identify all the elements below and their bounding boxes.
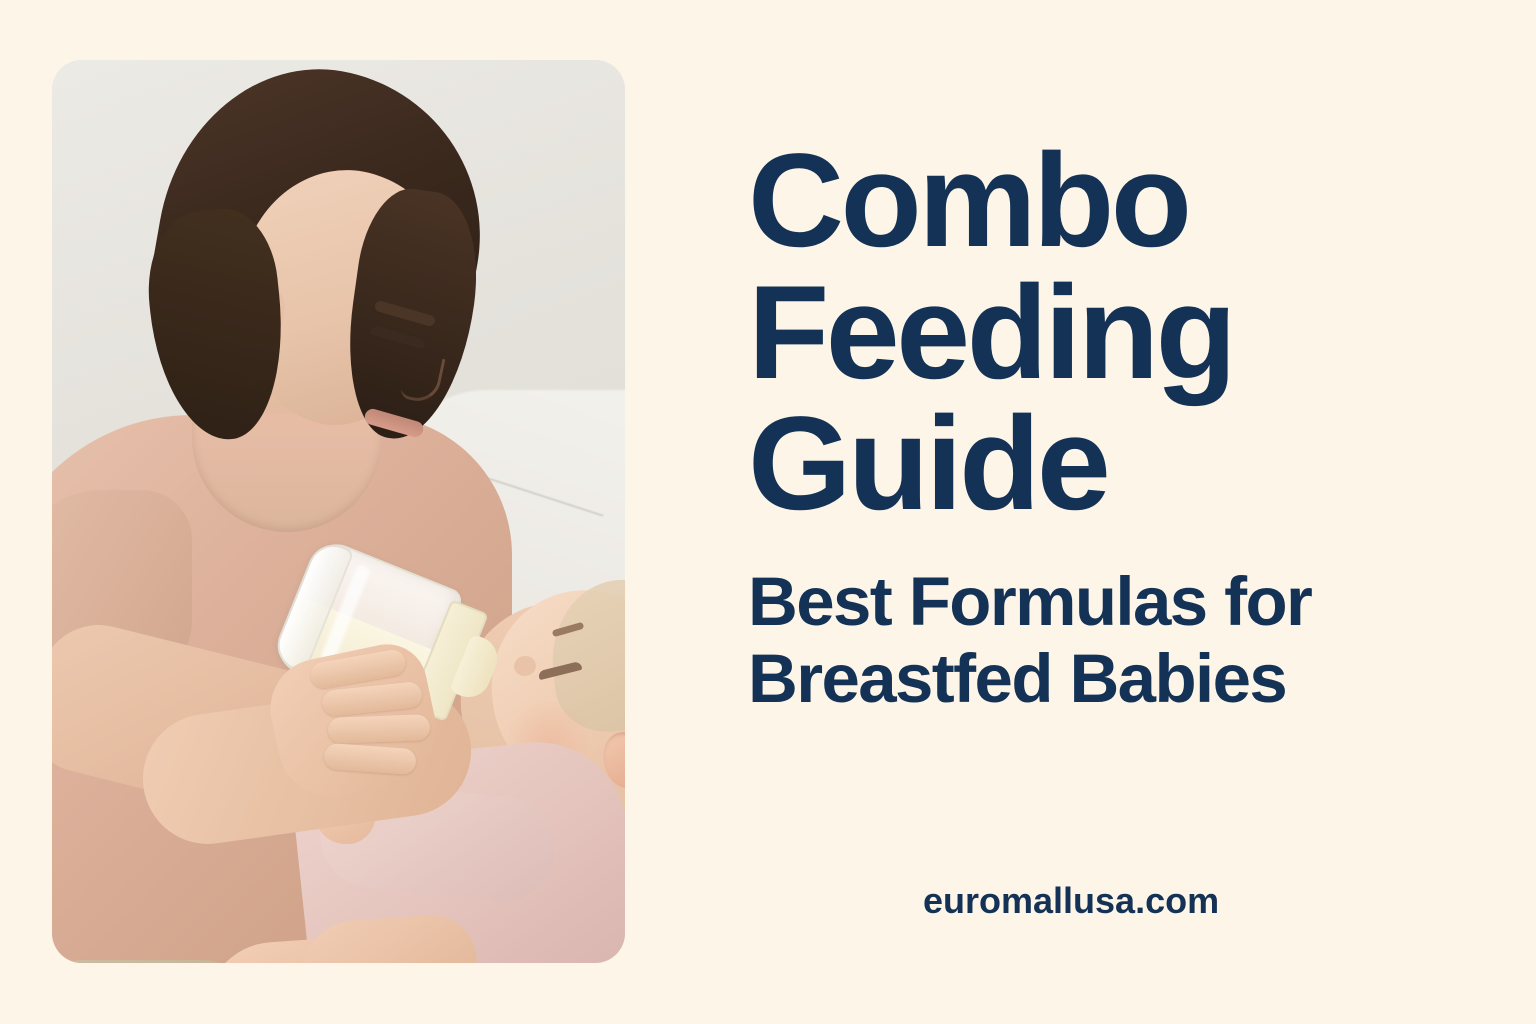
hero-photo [52,60,625,963]
site-url-label: euromallusa.com [923,880,1219,922]
mother-finger [328,714,431,744]
promo-banner: Combo Feeding Guide Best Formulas for Br… [0,0,1536,1024]
text-column: Combo Feeding Guide Best Formulas for Br… [748,0,1488,1024]
page-subtitle: Best Formulas for Breastfed Babies [748,563,1488,718]
page-title: Combo Feeding Guide [748,136,1488,531]
